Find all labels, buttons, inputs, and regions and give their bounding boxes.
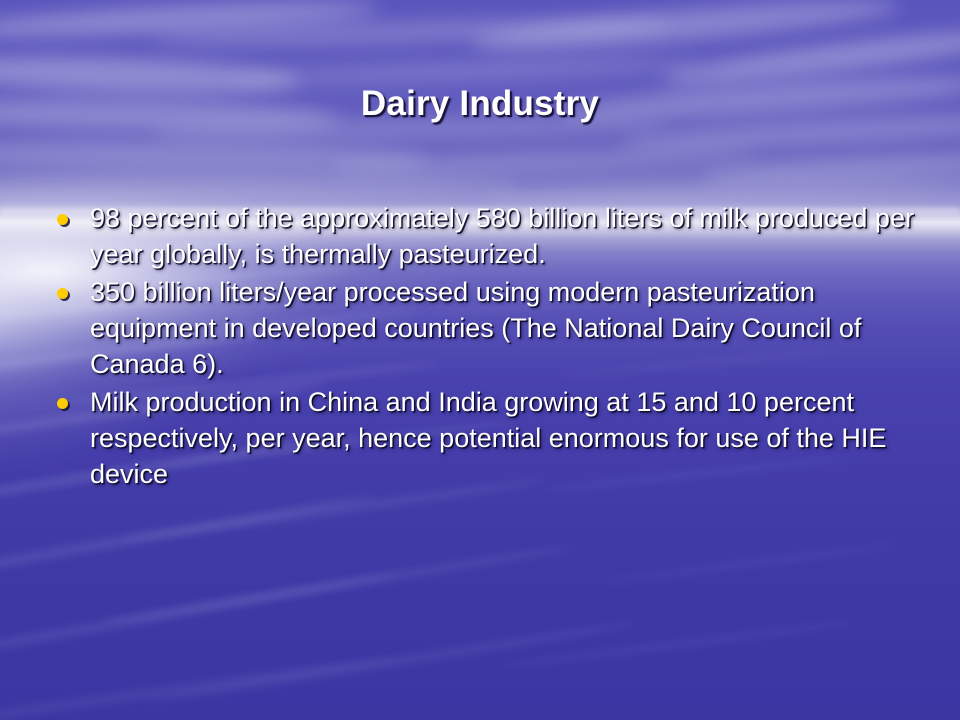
bullet-dot-icon [57,288,68,299]
bullet-list-item: 350 billion liters/year processed using … [48,274,920,382]
bullet-item-text: 350 billion liters/year processed using … [90,274,920,382]
bullet-item-text: Milk production in China and India growi… [90,384,920,492]
slide-title: Dairy Industry [0,84,960,124]
bullet-dot-icon [57,214,68,225]
bullet-item-text: 98 percent of the approximately 580 bill… [90,200,920,272]
bullet-list-item: 98 percent of the approximately 580 bill… [48,200,920,272]
presentation-slide: Dairy Industry 98 percent of the approxi… [0,0,960,720]
bullet-list-item: Milk production in China and India growi… [48,384,920,492]
slide-content: Dairy Industry 98 percent of the approxi… [0,0,960,720]
bullet-list: 98 percent of the approximately 580 bill… [48,200,920,494]
bullet-dot-icon [57,398,68,409]
